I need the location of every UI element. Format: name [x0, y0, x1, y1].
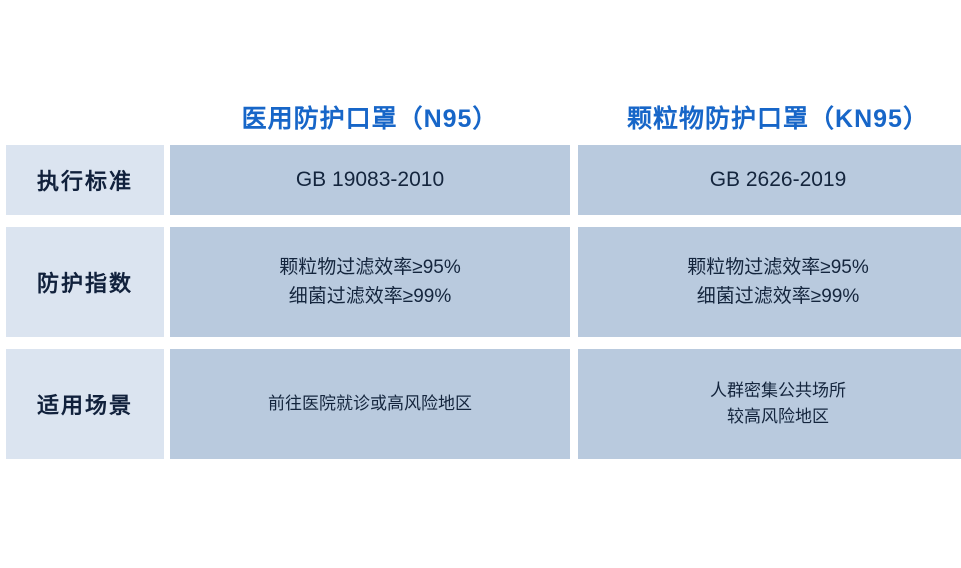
- comparison-table: 执行标准 GB 19083-2010 GB 2626-2019 防护指数 颗粒物…: [0, 145, 961, 471]
- row-label: 执行标准: [6, 145, 164, 215]
- table-cell: 颗粒物过滤效率≥95% 细菌过滤效率≥99%: [170, 227, 570, 337]
- table-row: 执行标准 GB 19083-2010 GB 2626-2019: [0, 145, 961, 215]
- comparison-table-page: 医用防护口罩（N95） 颗粒物防护口罩（KN95） 执行标准 GB 19083-…: [0, 0, 961, 568]
- table-row: 适用场景 前往医院就诊或高风险地区 人群密集公共场所 较高风险地区: [0, 349, 961, 459]
- column-headers: 医用防护口罩（N95） 颗粒物防护口罩（KN95）: [0, 96, 961, 142]
- cell-line: GB 19083-2010: [296, 164, 444, 197]
- table-cell: 前往医院就诊或高风险地区: [170, 349, 570, 459]
- cell-line: 细菌过滤效率≥99%: [697, 282, 859, 311]
- column-title-n95: 医用防护口罩（N95）: [168, 96, 572, 142]
- table-cell: 颗粒物过滤效率≥95% 细菌过滤效率≥99%: [578, 227, 961, 337]
- table-cell: 人群密集公共场所 较高风险地区: [578, 349, 961, 459]
- cell-line: 颗粒物过滤效率≥95%: [687, 253, 868, 282]
- cell-line: 前往医院就诊或高风险地区: [268, 391, 472, 417]
- cell-line: GB 2626-2019: [710, 164, 847, 197]
- column-title-kn95: 颗粒物防护口罩（KN95）: [576, 96, 961, 142]
- row-label: 适用场景: [6, 349, 164, 459]
- cell-line: 人群密集公共场所: [710, 378, 846, 404]
- cell-line: 细菌过滤效率≥99%: [289, 282, 451, 311]
- row-label: 防护指数: [6, 227, 164, 337]
- cell-line: 较高风险地区: [727, 404, 829, 430]
- table-row: 防护指数 颗粒物过滤效率≥95% 细菌过滤效率≥99% 颗粒物过滤效率≥95% …: [0, 227, 961, 337]
- table-cell: GB 2626-2019: [578, 145, 961, 215]
- cell-line: 颗粒物过滤效率≥95%: [279, 253, 460, 282]
- table-cell: GB 19083-2010: [170, 145, 570, 215]
